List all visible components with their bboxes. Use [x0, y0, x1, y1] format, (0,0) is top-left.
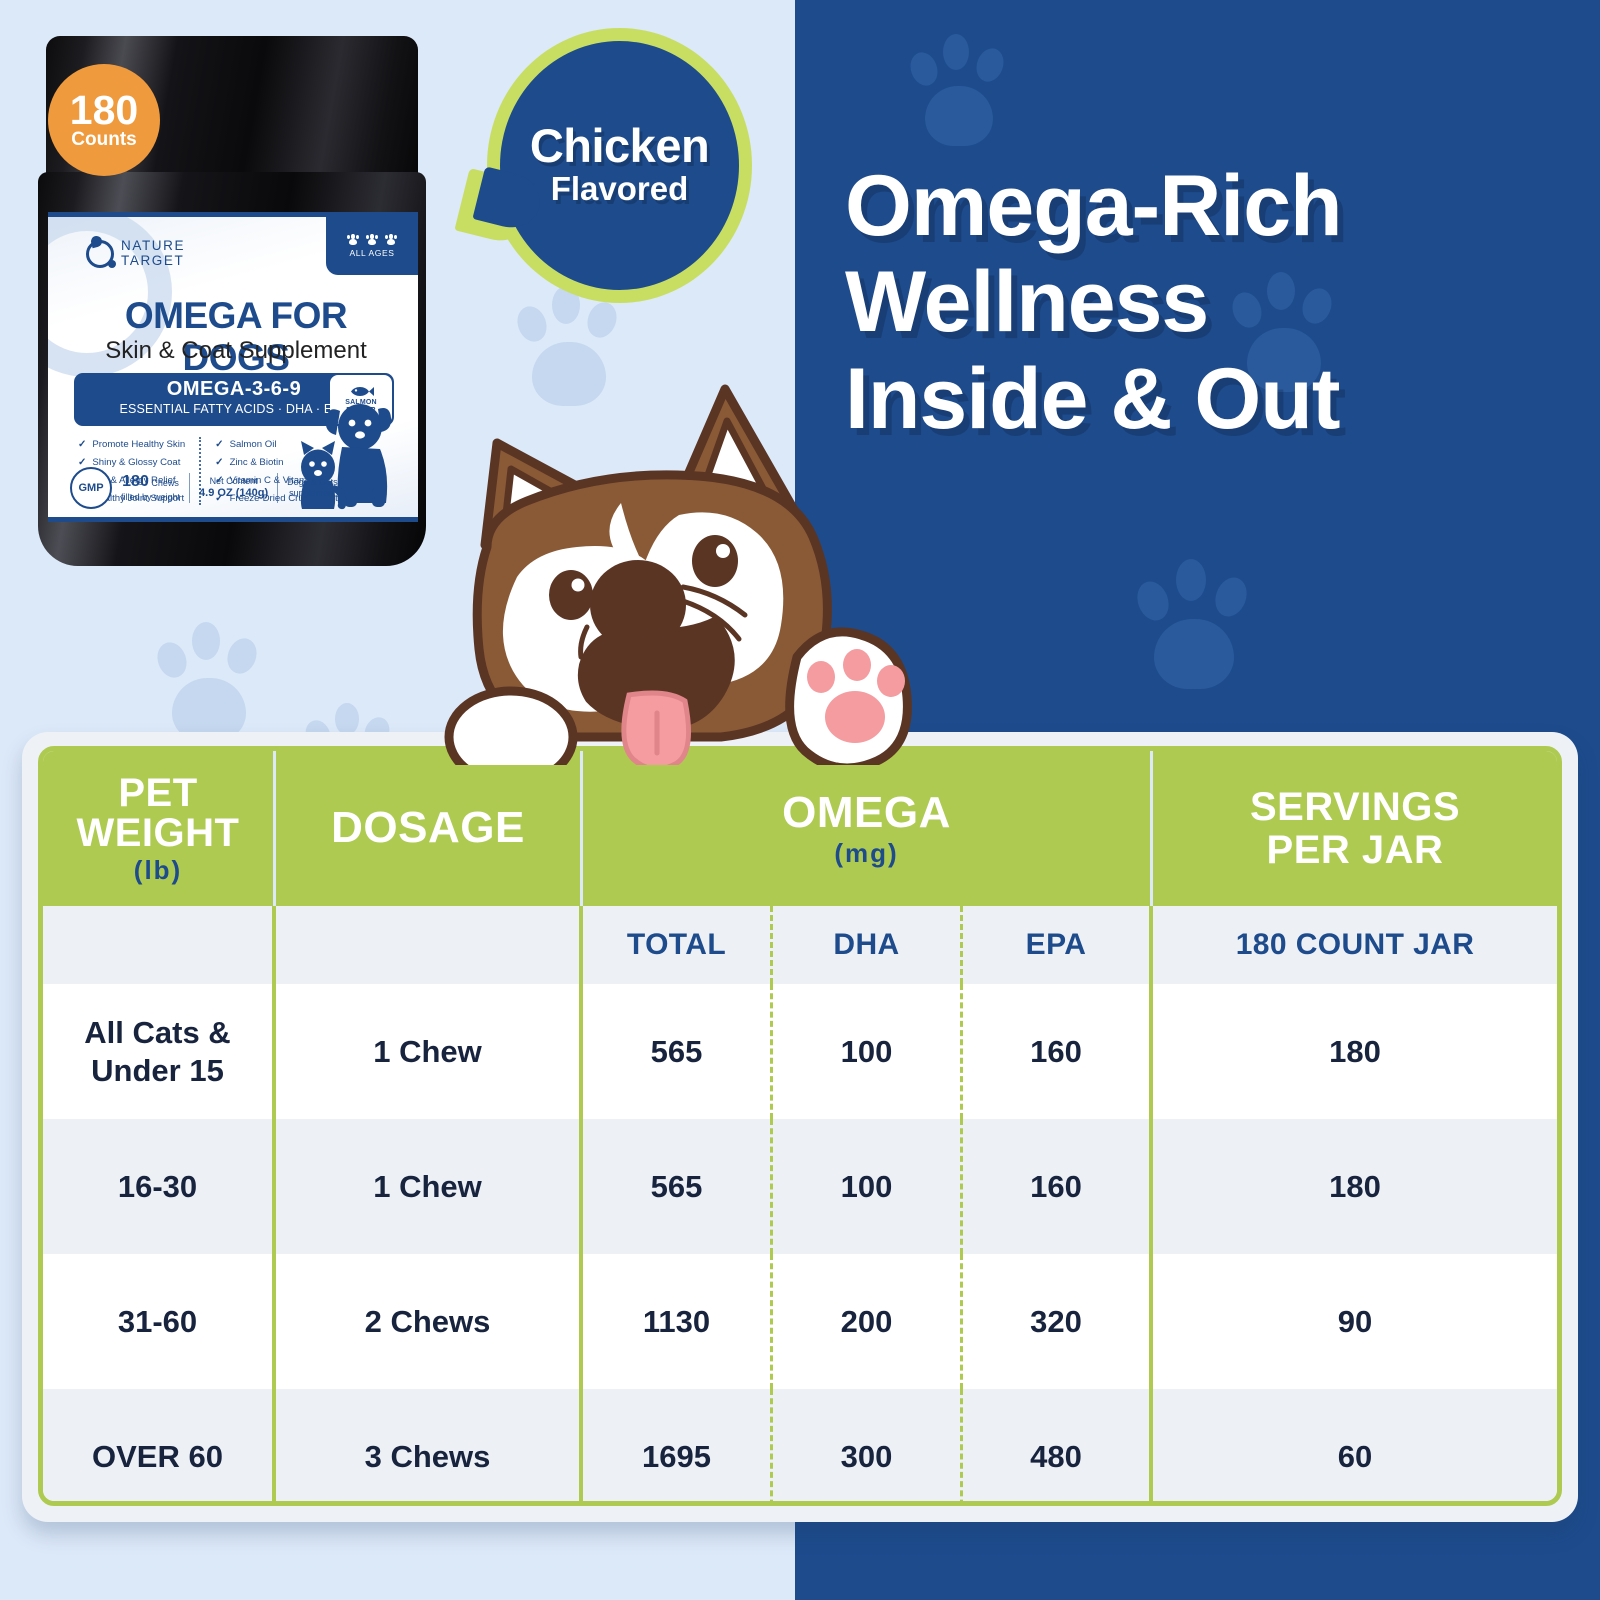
cell-dosage: 1 Chew	[276, 984, 583, 1119]
cell-dha: 100	[773, 1119, 963, 1254]
cell-epa: 320	[963, 1254, 1153, 1389]
table-subheader-row: TOTAL DHA EPA 180 COUNT JAR	[43, 906, 1557, 984]
cell-pet-weight: 16-30	[43, 1119, 276, 1254]
check-icon: ✓	[215, 439, 223, 450]
subheader-blank-1	[43, 906, 276, 984]
header-pet-weight: PET WEIGHT (lb)	[43, 751, 276, 906]
header-dosage-label: DOSAGE	[331, 806, 525, 851]
check-icon: ✓	[78, 439, 86, 450]
header-servings-line-2: PER JAR	[1250, 829, 1460, 871]
paw-icon	[347, 234, 360, 245]
cell-pet-weight: All Cats & Under 15	[43, 984, 276, 1119]
cell-pet-weight: OVER 60	[43, 1389, 276, 1506]
header-pet-weight-label: PET WEIGHT	[77, 771, 240, 855]
table-row: 31-60 2 Chews 1130 200 320 90	[43, 1254, 1557, 1389]
brand-line-2: TARGET	[121, 254, 185, 269]
dog-paw-raised	[790, 632, 908, 765]
brand-logo: NATURE TARGET	[86, 239, 185, 268]
cell-dha: 100	[773, 984, 963, 1119]
cell-epa: 480	[963, 1389, 1153, 1506]
jar-label: NATURE TARGET	[48, 212, 418, 522]
label-footer: GMP 180 Chews filled by weight Net Conte…	[70, 465, 400, 511]
dosage-table-frame: PET WEIGHT (lb) DOSAGE OMEGA (mg) SERVIN…	[22, 732, 1578, 1522]
chews-note: filled by weight	[121, 492, 180, 503]
header-omega-label: OMEGA	[782, 791, 951, 836]
chews-count: 180	[122, 473, 149, 490]
brand-line-1: NATURE	[121, 239, 185, 254]
footer-divider	[277, 473, 278, 503]
dog-eye-right	[692, 535, 738, 587]
cell-servings: 90	[1153, 1254, 1557, 1389]
all-ages-label: ALL AGES	[349, 248, 394, 258]
nature-target-logo-icon	[86, 240, 114, 268]
subheader-total: TOTAL	[583, 906, 773, 984]
dog-mascot-illustration	[425, 365, 945, 765]
table-header-row: PET WEIGHT (lb) DOSAGE OMEGA (mg) SERVIN…	[43, 751, 1557, 906]
header-servings: SERVINGS PER JAR	[1153, 751, 1557, 906]
benefit-text: Salmon Oil	[230, 439, 277, 450]
usage-line-1: Dogs & Cats	[287, 477, 338, 488]
cell-epa: 160	[963, 984, 1153, 1119]
header-dosage: DOSAGE	[276, 751, 583, 906]
dog-paw-left	[449, 691, 573, 765]
all-ages-paws	[347, 234, 398, 245]
benefit-text: Promote Healthy Skin	[92, 439, 185, 450]
gmp-seal-icon: GMP	[70, 467, 112, 509]
cell-total: 565	[583, 1119, 773, 1254]
cell-pet-weight-line-2: Under 15	[84, 1052, 230, 1089]
paw-icon	[385, 234, 398, 245]
usage-block: Dogs & Cats supplement	[287, 477, 338, 500]
dog-eye-left	[549, 570, 593, 620]
cell-dosage: 1 Chew	[276, 1119, 583, 1254]
net-content-label: Net Content	[199, 476, 268, 487]
cell-servings: 180	[1153, 1119, 1557, 1254]
subheader-epa: EPA	[963, 906, 1153, 984]
chicken-flavored-badge: Chicken Flavored	[487, 28, 752, 303]
cell-total: 1130	[583, 1254, 773, 1389]
all-ages-badge: ALL AGES	[326, 217, 418, 275]
page-headline: Omega-Rich Wellness Inside & Out	[845, 158, 1575, 447]
cell-servings: 60	[1153, 1389, 1557, 1506]
cell-dosage: 2 Chews	[276, 1254, 583, 1389]
header-servings-line-1: SERVINGS	[1250, 786, 1460, 828]
footer-divider	[189, 473, 190, 503]
cell-dha: 200	[773, 1254, 963, 1389]
table-row: OVER 60 3 Chews 1695 300 480 60	[43, 1389, 1557, 1506]
cell-epa: 160	[963, 1119, 1153, 1254]
net-content-value: 4.9 OZ (140g)	[199, 487, 268, 501]
chews-word: Chews	[151, 478, 179, 488]
cell-dha: 300	[773, 1389, 963, 1506]
brand-name: NATURE TARGET	[121, 239, 185, 268]
paw-icon	[366, 234, 379, 245]
cell-servings: 180	[1153, 984, 1557, 1119]
chews-count-block: 180 Chews filled by weight	[121, 472, 180, 503]
header-pet-weight-unit: (lb)	[134, 857, 182, 884]
header-omega: OMEGA (mg)	[583, 751, 1153, 906]
count-badge-number: 180	[70, 91, 138, 130]
cell-total: 1695	[583, 1389, 773, 1506]
table-row: 16-30 1 Chew 565 100 160 180	[43, 1119, 1557, 1254]
headline-line-2: Wellness	[845, 254, 1575, 350]
bubble-line-2: Flavored	[551, 169, 689, 209]
headline-line-1: Omega-Rich	[845, 158, 1575, 254]
bubble-line-1: Chicken	[530, 122, 709, 169]
cell-pet-weight: 31-60	[43, 1254, 276, 1389]
subheader-dha: DHA	[773, 906, 963, 984]
dosage-table: PET WEIGHT (lb) DOSAGE OMEGA (mg) SERVIN…	[38, 746, 1562, 1506]
cell-pet-weight-line-1: All Cats &	[84, 1014, 230, 1051]
cell-total: 565	[583, 984, 773, 1119]
subheader-jar: 180 COUNT JAR	[1153, 906, 1557, 984]
bubble-text: Chicken Flavored	[487, 28, 752, 303]
subheader-blank-2	[276, 906, 583, 984]
benefit-item: ✓Promote Healthy Skin	[78, 435, 185, 453]
net-content-block: Net Content 4.9 OZ (140g)	[199, 476, 268, 501]
count-badge: 180 Counts	[48, 64, 160, 176]
product-jar: NATURE TARGET	[38, 36, 428, 566]
headline-line-3: Inside & Out	[845, 351, 1575, 447]
header-omega-unit: (mg)	[834, 840, 898, 867]
table-row: All Cats & Under 15 1 Chew 565 100 160 1…	[43, 984, 1557, 1119]
product-subtitle: Skin & Coat Supplement	[76, 337, 396, 365]
count-badge-label: Counts	[71, 130, 136, 149]
usage-line-2: supplement	[287, 488, 338, 499]
cell-dosage: 3 Chews	[276, 1389, 583, 1506]
